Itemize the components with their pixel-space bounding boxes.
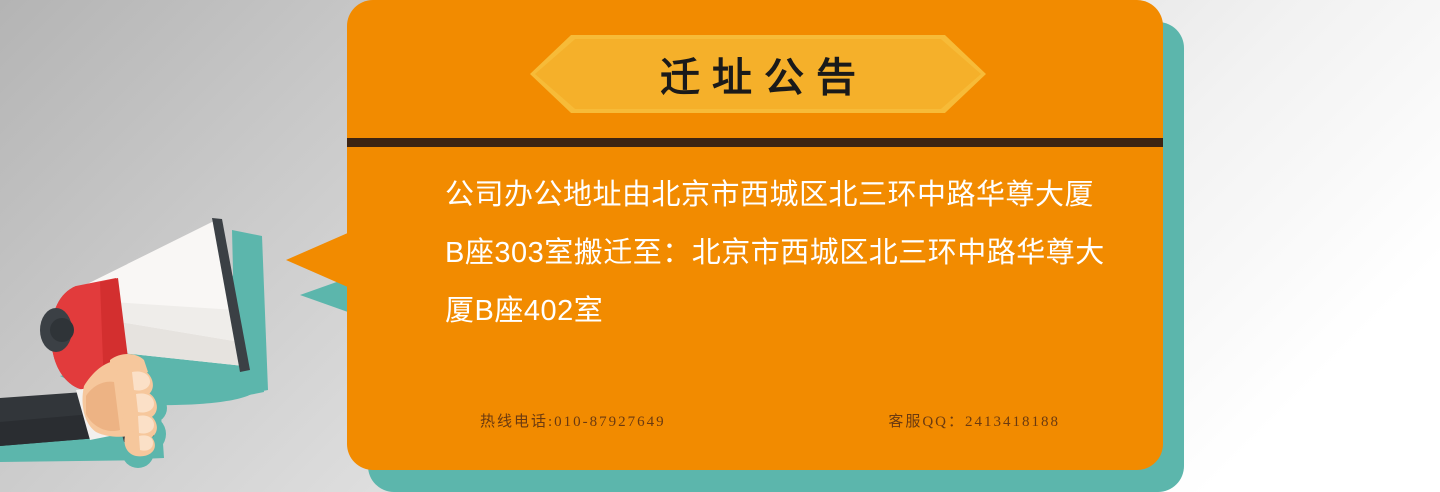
divider: [347, 138, 1163, 147]
speech-bubble-tail: [286, 232, 350, 288]
page-title: 迁址公告: [530, 35, 986, 113]
qq-text: 客服QQ：2413418188: [888, 410, 1060, 431]
footer-contacts: 热线电话:010-87927649 客服QQ：2413418188: [480, 410, 1060, 431]
megaphone-illustration: [0, 190, 330, 492]
announcement-body: 公司办公地址由北京市西城区北三环中路华尊大厦B座303室搬迁至：北京市西城区北三…: [445, 166, 1105, 340]
hotline-text: 热线电话:010-87927649: [480, 410, 666, 431]
announcement-banner: 迁址公告 公司办公地址由北京市西城区北三环中路华尊大厦B座303室搬迁至：北京市…: [0, 0, 1440, 492]
